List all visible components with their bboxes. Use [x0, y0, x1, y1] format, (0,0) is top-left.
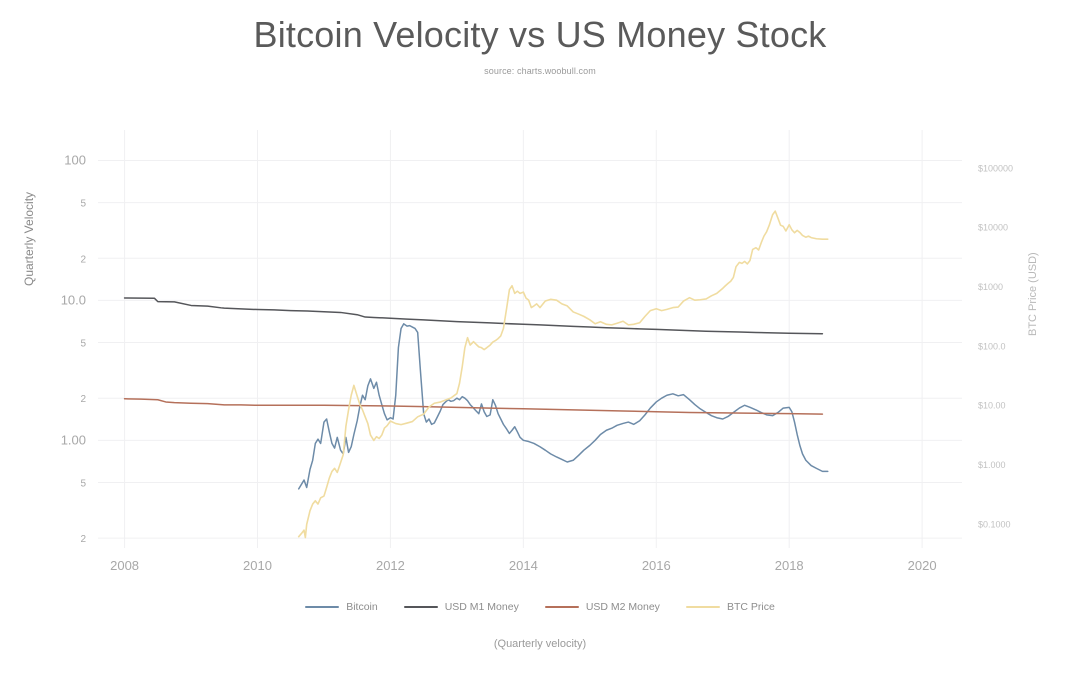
legend-swatch-icon: [305, 606, 339, 608]
y-axis-tick-label-right: $100.0: [978, 341, 1006, 351]
legend-swatch-icon: [545, 606, 579, 608]
legend-swatch-icon: [686, 606, 720, 608]
x-axis-tick-label: 2020: [908, 558, 937, 573]
chart-container: Bitcoin Velocity vs US Money Stock sourc…: [0, 0, 1080, 675]
y-axis-tick-label-left: 2: [80, 394, 86, 405]
y-axis-tick-label-right: $0.1000: [978, 519, 1011, 529]
legend-item-btc-price[interactable]: BTC Price: [686, 601, 775, 613]
x-axis-tick-label: 2012: [376, 558, 405, 573]
y-axis-tick-label-right: $10.00: [978, 401, 1006, 411]
y-axis-tick-label-right: $100000: [978, 163, 1013, 173]
y-axis-tick-label-left: 100: [64, 152, 86, 167]
legend-item-label: Bitcoin: [346, 601, 378, 613]
x-axis-tick-label: 2008: [110, 558, 139, 573]
legend-item-usd-m1-money[interactable]: USD M1 Money: [404, 601, 519, 613]
y-axis-tick-label-left: 2: [80, 534, 86, 545]
series-line-btc-price: [299, 211, 828, 537]
y-axis-tick-label-left: 5: [80, 339, 86, 350]
legend-item-label: USD M2 Money: [586, 601, 660, 613]
y-axis-tick-label-left: 10.0: [61, 292, 86, 307]
series-line-usd-m1-money: [125, 298, 823, 334]
legend-item-usd-m2-money[interactable]: USD M2 Money: [545, 601, 660, 613]
x-axis-tick-label: 2014: [509, 558, 538, 573]
y-axis-tick-label-right: $10000: [978, 223, 1008, 233]
x-axis-tick-label: 2018: [775, 558, 804, 573]
y-axis-tick-label-right: $1.000: [978, 460, 1006, 470]
y-axis-label-right: BTC Price (USD): [1027, 252, 1039, 336]
chart-plot-area: 1005210.0521.0052$100000$10000$1000$100.…: [0, 0, 1080, 675]
legend-item-label: USD M1 Money: [445, 601, 519, 613]
legend-item-bitcoin[interactable]: Bitcoin: [305, 601, 378, 613]
chart-legend: BitcoinUSD M1 MoneyUSD M2 MoneyBTC Price: [0, 601, 1080, 613]
y-axis-tick-label-left: 5: [80, 478, 86, 489]
y-axis-label-left: Quarterly Velocity: [22, 268, 36, 286]
y-axis-tick-label-left: 2: [80, 254, 86, 265]
y-axis-tick-label-left: 1.00: [61, 432, 86, 447]
legend-swatch-icon: [404, 606, 438, 608]
x-axis-tick-label: 2016: [642, 558, 671, 573]
series-line-usd-m2-money: [125, 399, 823, 414]
legend-item-label: BTC Price: [727, 601, 775, 613]
chart-footer-caption: (Quarterly velocity): [0, 638, 1080, 650]
y-axis-tick-label-left: 5: [80, 199, 86, 210]
x-axis-tick-label: 2010: [243, 558, 272, 573]
y-axis-tick-label-right: $1000: [978, 282, 1003, 292]
